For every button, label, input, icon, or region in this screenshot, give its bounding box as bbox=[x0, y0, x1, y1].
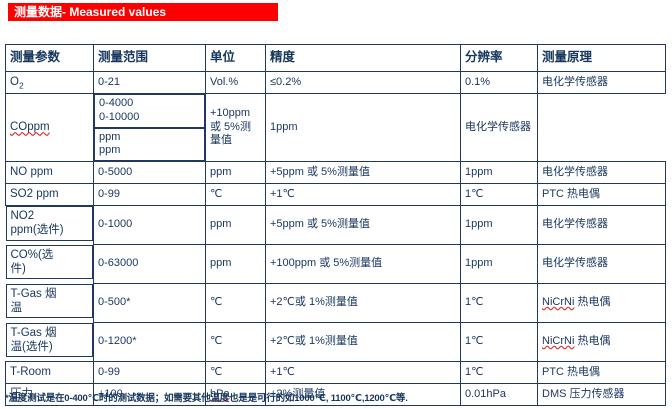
cell-parameter: COppm bbox=[6, 94, 94, 162]
cell-principle: PTC 热电偶 bbox=[538, 362, 666, 384]
cell-principle: 电化学传感器 bbox=[538, 162, 666, 184]
cell-parameter: T-Gas 烟 温(选件) bbox=[6, 323, 94, 358]
table-row: O2 0-21 Vol.% ≤0.2% 0.1% 电化学传感器 bbox=[6, 72, 666, 94]
cell-unit: ℃ bbox=[206, 184, 266, 206]
cell-parameter: T-Room bbox=[6, 362, 94, 384]
cell-resolution: 0.01hPa bbox=[461, 384, 538, 406]
cell-parameter: O2 bbox=[6, 72, 94, 94]
cell-accuracy: +100ppm 或 5%测量值 bbox=[266, 245, 461, 284]
column-header-accuracy: 精度 bbox=[266, 45, 461, 72]
cell-accuracy: +2℃或 1%测量值 bbox=[266, 323, 461, 362]
cell-range: 0-21 bbox=[94, 72, 206, 94]
cell-principle: 电化学传感器 bbox=[538, 72, 666, 94]
cell-parameter: NO ppm bbox=[6, 162, 94, 184]
cell-parameter: CO%(选 件) bbox=[6, 245, 94, 280]
parameter-line-1: T-Gas 烟 bbox=[11, 326, 89, 340]
parameter-line-2: 温(选件) bbox=[11, 340, 89, 354]
column-header-principle: 测量原理 bbox=[538, 45, 666, 72]
cell-range: 0-4000 0-10000 bbox=[94, 94, 205, 128]
cell-range: 0-99 bbox=[94, 184, 206, 206]
parameter-line-2: 温 bbox=[11, 301, 89, 315]
unit-line-2: ppm bbox=[99, 144, 200, 158]
principle-suffix: 热电偶 bbox=[574, 296, 610, 308]
table-row: CO%(选 件) 0-63000 ppm +100ppm 或 5%测量值 1pp… bbox=[6, 245, 666, 284]
parameter-line-1: NO2 bbox=[11, 209, 89, 223]
cell-accuracy: +2℃或 1%测量值 bbox=[266, 284, 461, 323]
table-header-row: 测量参数 测量范围 单位 精度 分辨率 测量原理 bbox=[6, 45, 666, 72]
cell-parameter: T-Gas 烟 温 bbox=[6, 284, 94, 319]
cell-range: 0-1200* bbox=[94, 323, 206, 362]
cell-resolution: 1ppm bbox=[461, 245, 538, 284]
cell-range: 0-63000 bbox=[94, 245, 206, 284]
parameter-label: COppm bbox=[10, 121, 50, 133]
cell-unit: ppm bbox=[206, 245, 266, 284]
cell-parameter: NO2 ppm(选件) bbox=[6, 206, 94, 241]
cell-resolution: 1℃ bbox=[461, 184, 538, 206]
table-row: NO2 ppm(选件) 0-1000 ppm +5ppm 或 5%测量值 1pp… bbox=[6, 206, 666, 245]
parameter-subscript: 2 bbox=[19, 80, 24, 90]
unit-line-1: ppm bbox=[99, 131, 200, 145]
column-header-resolution: 分辨率 bbox=[461, 45, 538, 72]
cell-unit: ppm bbox=[206, 162, 266, 184]
cell-accuracy: +5ppm 或 5%测量值 bbox=[266, 206, 461, 245]
column-header-parameter: 测量参数 bbox=[6, 45, 94, 72]
column-header-unit: 单位 bbox=[206, 45, 266, 72]
cell-range: 0-500* bbox=[94, 284, 206, 323]
cell-principle: NiCrNi 热电偶 bbox=[538, 284, 666, 323]
cell-range: 0-99 bbox=[94, 362, 206, 384]
section-title-banner: 测量数据- Measured values bbox=[8, 3, 278, 21]
cell-accuracy: +10ppm 或 5%测量值 bbox=[206, 94, 266, 162]
cell-principle: PTC 热电偶 bbox=[538, 184, 666, 206]
footnote-text: *温度测试是在0-400℃时的测试数据；如需要其他温度也是是可行的如1000℃,… bbox=[5, 390, 408, 404]
principle-sensor-name: NiCrNi bbox=[542, 335, 574, 347]
cell-accuracy: ≤0.2% bbox=[266, 72, 461, 94]
cell-range: 0-5000 bbox=[94, 162, 206, 184]
cell-resolution: 1ppm bbox=[461, 206, 538, 245]
cell-range: 0-1000 bbox=[94, 206, 206, 245]
cell-unit: ppm ppm bbox=[94, 128, 205, 162]
cell-principle: DMS 压力传感器 bbox=[538, 384, 666, 406]
cell-accuracy: +1℃ bbox=[266, 362, 461, 384]
cell-unit: Vol.% bbox=[206, 72, 266, 94]
table-row: T-Gas 烟 温(选件) 0-1200* ℃ +2℃或 1%测量值 1℃ Ni… bbox=[6, 323, 666, 362]
column-header-range: 测量范围 bbox=[94, 45, 206, 72]
cell-accuracy: +5ppm 或 5%测量值 bbox=[266, 162, 461, 184]
principle-sensor-name: NiCrNi bbox=[542, 296, 574, 308]
cell-resolution: 0.1% bbox=[461, 72, 538, 94]
parameter-line-1: T-Gas 烟 bbox=[11, 287, 89, 301]
cell-resolution: 1℃ bbox=[461, 284, 538, 323]
parameter-base: O bbox=[10, 76, 19, 88]
table-row: T-Gas 烟 温 0-500* ℃ +2℃或 1%测量值 1℃ NiCrNi … bbox=[6, 284, 666, 323]
cell-resolution: 1ppm bbox=[461, 162, 538, 184]
cell-principle: 电化学传感器 bbox=[538, 245, 666, 284]
cell-accuracy: +1℃ bbox=[266, 184, 461, 206]
cell-unit: ℃ bbox=[206, 284, 266, 323]
cell-unit: ppm bbox=[206, 206, 266, 245]
table-row: NO ppm 0-5000 ppm +5ppm 或 5%测量值 1ppm 电化学… bbox=[6, 162, 666, 184]
cell-resolution: 1℃ bbox=[461, 362, 538, 384]
cell-unit: ℃ bbox=[206, 323, 266, 362]
section-title-text: 测量数据- Measured values bbox=[14, 5, 166, 19]
table-row: T-Room 0-99 ℃ +1℃ 1℃ PTC 热电偶 bbox=[6, 362, 666, 384]
page-root: 测量数据- Measured values 测量参数 测量范围 单位 精度 分辨… bbox=[0, 0, 672, 409]
parameter-line-1: CO%(选 bbox=[11, 248, 89, 262]
range-line-1: 0-4000 bbox=[99, 97, 200, 111]
cell-principle: 电化学传感器 bbox=[538, 206, 666, 245]
cell-resolution: 1℃ bbox=[461, 323, 538, 362]
parameter-line-2: ppm(选件) bbox=[11, 223, 89, 237]
table-row: SO2 ppm 0-99 ℃ +1℃ 1℃ PTC 热电偶 bbox=[6, 184, 666, 206]
parameter-line-2: 件) bbox=[11, 262, 89, 276]
cell-principle: 电化学传感器 bbox=[461, 94, 538, 162]
cell-resolution: 1ppm bbox=[266, 94, 461, 162]
table-row: COppm 0-4000 0-10000 ppm ppm +10ppm 或 5%… bbox=[6, 94, 666, 162]
cell-unit: ℃ bbox=[206, 362, 266, 384]
principle-suffix: 热电偶 bbox=[574, 335, 610, 347]
range-line-2: 0-10000 bbox=[99, 111, 200, 125]
cell-parameter: SO2 ppm bbox=[6, 184, 94, 206]
measured-values-table: 测量参数 测量范围 单位 精度 分辨率 测量原理 O2 0-21 Vol.% ≤… bbox=[5, 44, 666, 406]
cell-principle: NiCrNi 热电偶 bbox=[538, 323, 666, 362]
